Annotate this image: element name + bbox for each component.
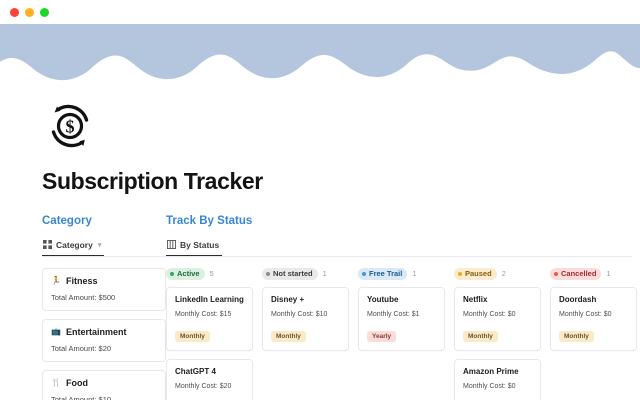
status-badge-paused[interactable]: Paused bbox=[454, 268, 497, 280]
category-card[interactable]: 🍴 Food Total Amount: $10 bbox=[42, 370, 166, 400]
maximize-window-button[interactable] bbox=[40, 8, 49, 17]
status-label: Cancelled bbox=[561, 269, 596, 278]
subscription-name: Amazon Prime bbox=[463, 367, 533, 376]
chevron-down-icon[interactable]: ▾ bbox=[98, 241, 102, 249]
status-column-not-started: Not started 1 Disney + Monthly Cost: $10… bbox=[262, 268, 349, 400]
tab-category-label: Category bbox=[56, 240, 93, 250]
status-badge-free-trail[interactable]: Free Trail bbox=[358, 268, 407, 280]
subscription-cost: Monthly Cost: $20 bbox=[175, 383, 245, 390]
subscription-cost: Monthly Cost: $0 bbox=[559, 311, 629, 318]
subscription-cost: Monthly Cost: $1 bbox=[367, 311, 437, 318]
subscription-card[interactable]: Youtube Monthly Cost: $1 Yearly bbox=[358, 287, 445, 351]
tab-category-view[interactable]: Category ▾ bbox=[42, 238, 104, 256]
frequency-badge[interactable]: Monthly bbox=[463, 331, 498, 342]
status-count: 1 bbox=[412, 269, 416, 278]
subscription-card[interactable]: Disney + Monthly Cost: $10 Monthly bbox=[262, 287, 349, 351]
status-column-header: Not started 1 bbox=[262, 268, 349, 280]
status-badge-not-started[interactable]: Not started bbox=[262, 268, 318, 280]
status-dot-icon bbox=[170, 272, 174, 276]
status-dot-icon bbox=[362, 272, 366, 276]
category-card[interactable]: 🏃 Fitness Total Amount: $500 bbox=[42, 268, 166, 311]
category-view-tabs: Category ▾ bbox=[42, 236, 166, 257]
category-total-amount: Total Amount: $500 bbox=[51, 293, 157, 302]
status-column-header: Paused 2 bbox=[454, 268, 541, 280]
category-name: Entertainment bbox=[66, 327, 127, 337]
app-logo: $ bbox=[0, 84, 640, 154]
category-card-list: 🏃 Fitness Total Amount: $500 📺 Entertain… bbox=[42, 268, 166, 400]
minimize-window-button[interactable] bbox=[25, 8, 34, 17]
status-panel: Track By Status By Status Active bbox=[166, 215, 640, 400]
category-name: Fitness bbox=[66, 276, 98, 286]
status-count: 1 bbox=[606, 269, 610, 278]
subscription-name: ChatGPT 4 bbox=[175, 367, 245, 376]
status-badge-active[interactable]: Active bbox=[166, 268, 205, 280]
subscription-card[interactable]: Netflix Monthly Cost: $0 Monthly bbox=[454, 287, 541, 351]
tab-by-status-view[interactable]: By Status bbox=[166, 238, 222, 256]
entertainment-icon: 📺 bbox=[51, 328, 61, 336]
category-total-amount: Total Amount: $10 bbox=[51, 395, 157, 400]
status-column-header: Free Trail 1 bbox=[358, 268, 445, 280]
status-board: Active 5 LinkedIn Learning Monthly Cost:… bbox=[166, 268, 640, 400]
subscription-name: Youtube bbox=[367, 295, 437, 304]
subscription-card[interactable]: Amazon Prime Monthly Cost: $0 Monthly bbox=[454, 359, 541, 400]
main-content: Category Category ▾ 🏃 Fitness Total Am bbox=[0, 195, 640, 400]
page-title: Subscription Tracker bbox=[0, 154, 640, 195]
status-count: 5 bbox=[210, 269, 214, 278]
subscription-card[interactable]: Doordash Monthly Cost: $0 Monthly bbox=[550, 287, 637, 351]
subscription-name: Netflix bbox=[463, 295, 533, 304]
subscription-cost: Monthly Cost: $0 bbox=[463, 311, 533, 318]
status-column-paused: Paused 2 Netflix Monthly Cost: $0 Monthl… bbox=[454, 268, 541, 400]
food-icon: 🍴 bbox=[51, 379, 61, 387]
frequency-badge[interactable]: Monthly bbox=[175, 331, 210, 342]
grid-icon bbox=[43, 240, 52, 249]
subscription-name: Disney + bbox=[271, 295, 341, 304]
frequency-badge[interactable]: Monthly bbox=[559, 331, 594, 342]
status-column-cancelled: Cancelled 1 Doordash Monthly Cost: $0 Mo… bbox=[550, 268, 637, 400]
status-label: Not started bbox=[273, 269, 313, 278]
subscription-cost: Monthly Cost: $10 bbox=[271, 311, 341, 318]
subscription-cost: Monthly Cost: $15 bbox=[175, 311, 245, 318]
subscription-card[interactable]: ChatGPT 4 Monthly Cost: $20 Monthly bbox=[166, 359, 253, 400]
status-badge-cancelled[interactable]: Cancelled bbox=[550, 268, 601, 280]
status-dot-icon bbox=[458, 272, 462, 276]
recurring-dollar-icon: $ bbox=[42, 98, 98, 154]
status-view-tabs: By Status bbox=[166, 236, 632, 257]
frequency-badge[interactable]: Yearly bbox=[367, 331, 396, 342]
category-total-amount: Total Amount: $20 bbox=[51, 344, 157, 353]
status-count: 2 bbox=[502, 269, 506, 278]
status-label: Paused bbox=[465, 269, 492, 278]
category-card[interactable]: 📺 Entertainment Total Amount: $20 bbox=[42, 319, 166, 362]
page-body: $ Subscription Tracker Category Category… bbox=[0, 84, 640, 400]
subscription-card[interactable]: LinkedIn Learning Monthly Cost: $15 Mont… bbox=[166, 287, 253, 351]
status-column-header: Active 5 bbox=[166, 268, 253, 280]
banner-scallop-shape bbox=[0, 24, 640, 84]
category-card-title: 🏃 Fitness bbox=[51, 276, 157, 286]
status-count: 1 bbox=[323, 269, 327, 278]
status-dot-icon bbox=[266, 272, 270, 276]
fitness-icon: 🏃 bbox=[51, 277, 61, 285]
status-label: Active bbox=[177, 269, 200, 278]
tab-by-status-label: By Status bbox=[180, 240, 219, 250]
status-label: Free Trail bbox=[369, 269, 402, 278]
board-icon bbox=[167, 240, 176, 249]
status-heading: Track By Status bbox=[166, 215, 640, 227]
category-panel: Category Category ▾ 🏃 Fitness Total Am bbox=[42, 215, 166, 400]
close-window-button[interactable] bbox=[10, 8, 19, 17]
svg-text:$: $ bbox=[66, 117, 75, 137]
category-card-title: 🍴 Food bbox=[51, 378, 157, 388]
category-heading: Category bbox=[42, 215, 166, 227]
status-dot-icon bbox=[554, 272, 558, 276]
frequency-badge[interactable]: Monthly bbox=[271, 331, 306, 342]
window-titlebar bbox=[0, 0, 640, 24]
status-column-header: Cancelled 1 bbox=[550, 268, 637, 280]
category-card-title: 📺 Entertainment bbox=[51, 327, 157, 337]
subscription-name: LinkedIn Learning bbox=[175, 295, 245, 304]
status-column-active: Active 5 LinkedIn Learning Monthly Cost:… bbox=[166, 268, 253, 400]
status-column-free-trail: Free Trail 1 Youtube Monthly Cost: $1 Ye… bbox=[358, 268, 445, 400]
subscription-cost: Monthly Cost: $0 bbox=[463, 383, 533, 390]
header-banner bbox=[0, 24, 640, 84]
subscription-name: Doordash bbox=[559, 295, 629, 304]
category-name: Food bbox=[66, 378, 88, 388]
